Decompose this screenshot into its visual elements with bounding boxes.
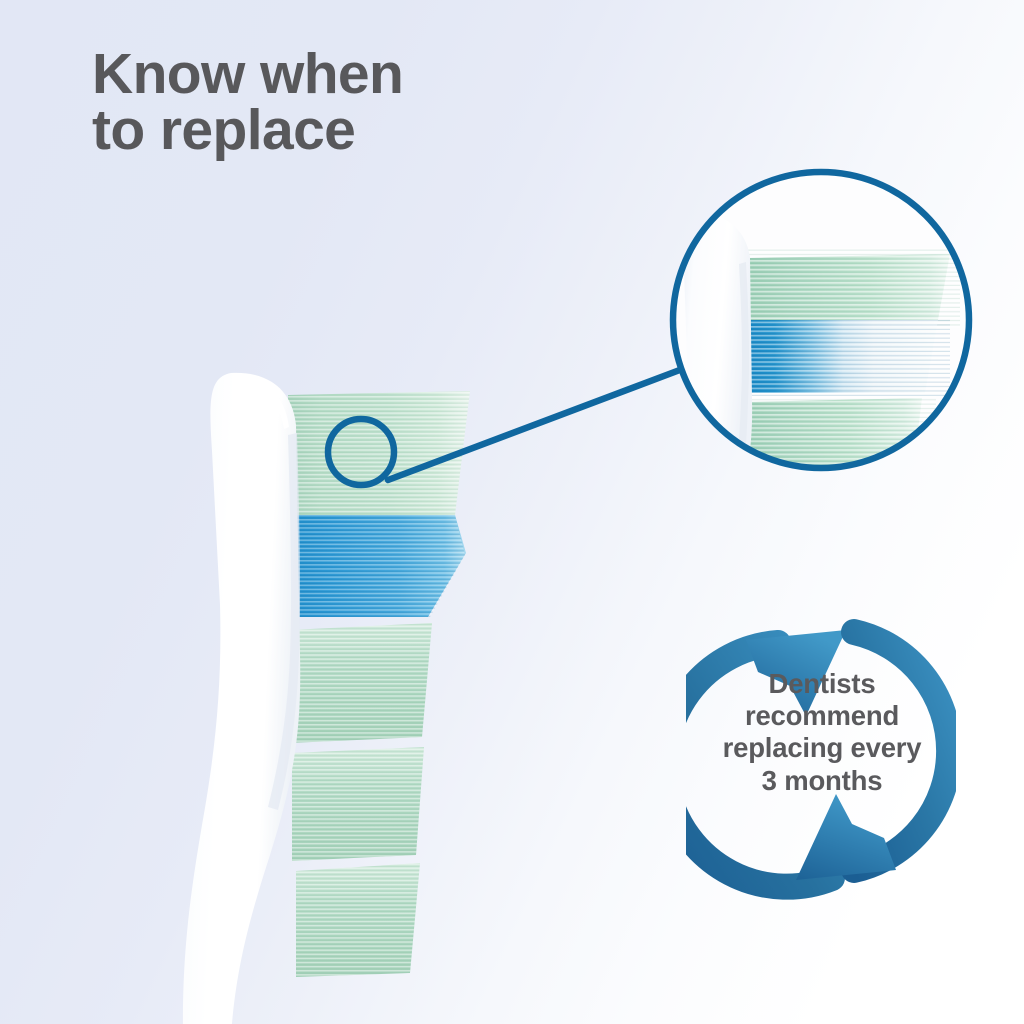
replace-cycle-badge	[686, 588, 956, 918]
page-title: Know when to replace	[92, 46, 403, 159]
bristle-row-green-3	[284, 741, 454, 871]
magnifier-bristle-closeup	[660, 150, 990, 490]
infographic-canvas: Dentists recommend replacing every 3 mon…	[0, 0, 1024, 1024]
closeup-row-green-top	[740, 248, 960, 328]
closeup-row-blue-worn	[740, 318, 950, 396]
bristle-row-green-4	[288, 859, 458, 989]
bristle-row-green-2	[282, 617, 452, 752]
